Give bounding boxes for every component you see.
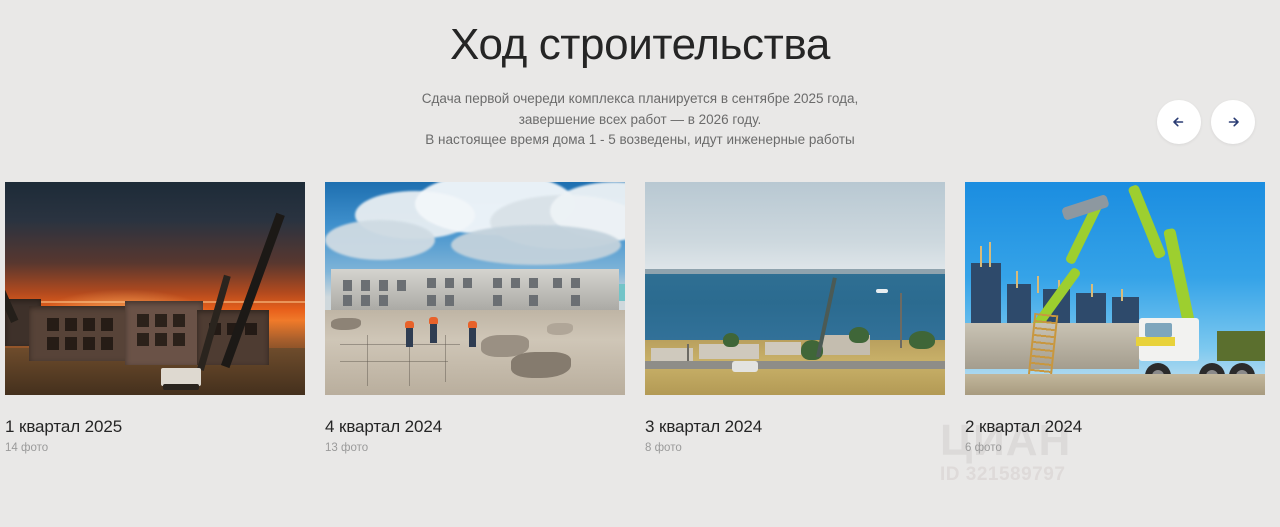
photo-sea-view-construction: [645, 182, 945, 395]
carousel-prev-button[interactable]: [1157, 100, 1201, 144]
subtitle-line-1: Сдача первой очереди комплекса планирует…: [0, 89, 1280, 110]
gallery-card[interactable]: 4 квартал 2024 13 фото: [325, 182, 625, 456]
card-photo-count: 8 фото: [645, 441, 945, 456]
photo-concrete-pump-truck: [965, 182, 1265, 395]
carousel-nav: [1157, 100, 1255, 144]
gallery-card[interactable]: 1 квартал 2025 14 фото: [5, 182, 305, 456]
construction-gallery: 1 квартал 2025 14 фото: [0, 182, 1280, 456]
subtitle-line-3: В настоящее время дома 1 - 5 возведены, …: [0, 130, 1280, 151]
page-header: Ход строительства Сдача первой очереди к…: [0, 0, 1280, 151]
card-thumbnail[interactable]: [5, 182, 305, 395]
card-title: 4 квартал 2024: [325, 416, 625, 438]
subtitle-line-2: завершение всех работ — в 2026 году.: [0, 110, 1280, 131]
card-photo-count: 13 фото: [325, 441, 625, 456]
carousel-next-button[interactable]: [1211, 100, 1255, 144]
card-photo-count: 14 фото: [5, 441, 305, 456]
card-title: 3 квартал 2024: [645, 416, 945, 438]
card-photo-count: 6 фото: [965, 441, 1265, 456]
card-thumbnail[interactable]: [645, 182, 945, 395]
page-subtitle: Сдача первой очереди комплекса планирует…: [0, 89, 1280, 151]
arrow-left-icon: [1169, 112, 1189, 132]
gallery-card[interactable]: 2 квартал 2024 6 фото: [965, 182, 1265, 456]
photo-sunset-construction-cranes: [5, 182, 305, 395]
card-title: 2 квартал 2024: [965, 416, 1265, 438]
watermark-id: ID 321589797: [940, 464, 1270, 486]
card-title: 1 квартал 2025: [5, 416, 305, 438]
photo-cloudy-site-workers: [325, 182, 625, 395]
card-thumbnail[interactable]: [325, 182, 625, 395]
gallery-card[interactable]: 3 квартал 2024 8 фото: [645, 182, 945, 456]
arrow-right-icon: [1223, 112, 1243, 132]
page-title: Ход строительства: [0, 18, 1280, 72]
card-thumbnail[interactable]: [965, 182, 1265, 395]
